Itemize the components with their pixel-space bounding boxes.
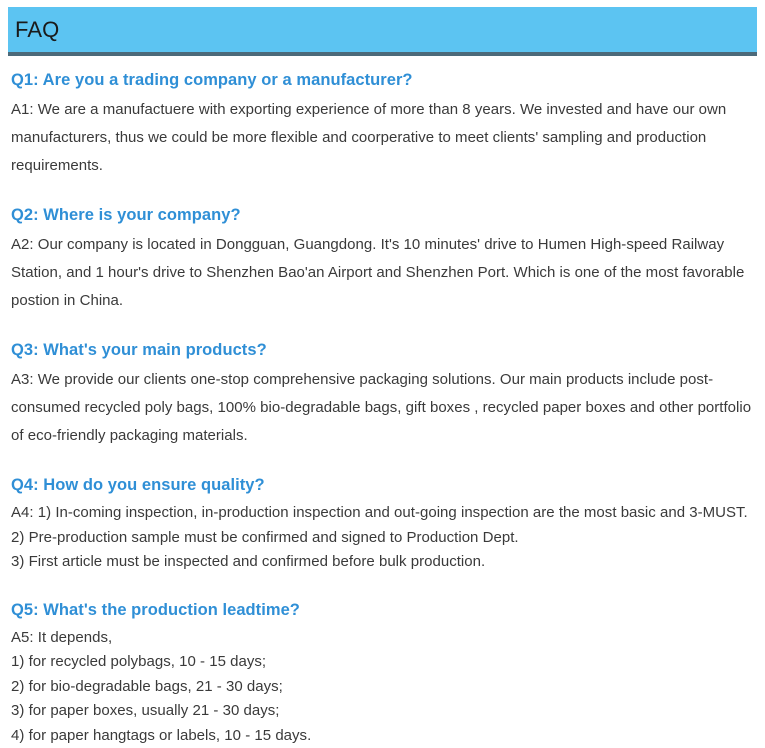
faq-answer: A5: It depends,1) for recycled polybags,…: [11, 626, 753, 748]
faq-banner-title: FAQ: [15, 19, 59, 41]
faq-answer: A2: Our company is located in Dongguan, …: [11, 231, 753, 315]
faq-question: Q5: What's the production leadtime?: [11, 598, 753, 622]
faq-answer: A1: We are a manufactuere with exporting…: [11, 96, 753, 180]
faq-question: Q4: How do you ensure quality?: [11, 473, 753, 497]
faq-question: Q1: Are you a trading company or a manuf…: [11, 68, 753, 92]
faq-item: Q1: Are you a trading company or a manuf…: [11, 68, 753, 180]
faq-answer-line: 2) for bio-degradable bags, 21 - 30 days…: [11, 675, 753, 700]
faq-item: Q3: What's your main products?A3: We pro…: [11, 338, 753, 450]
faq-banner: FAQ: [8, 7, 757, 56]
faq-answer-line: A3: We provide our clients one-stop comp…: [11, 366, 753, 450]
faq-answer-line: 4) for paper hangtags or labels, 10 - 15…: [11, 724, 753, 748]
faq-answer: A3: We provide our clients one-stop comp…: [11, 366, 753, 450]
faq-question: Q3: What's your main products?: [11, 338, 753, 362]
faq-item: Q2: Where is your company?A2: Our compan…: [11, 203, 753, 315]
faq-answer-line: 2) Pre-production sample must be confirm…: [11, 526, 753, 551]
faq-answer: A4: 1) In-coming inspection, in-producti…: [11, 501, 753, 575]
faq-answer-line: 1) for recycled polybags, 10 - 15 days;: [11, 650, 753, 675]
faq-item: Q4: How do you ensure quality?A4: 1) In-…: [11, 473, 753, 575]
faq-answer-line: 3) for paper boxes, usually 21 - 30 days…: [11, 699, 753, 724]
faq-answer-line: 3) First article must be inspected and c…: [11, 550, 753, 575]
faq-item: Q5: What's the production leadtime?A5: I…: [11, 598, 753, 748]
faq-page: FAQ Q1: Are you a trading company or a m…: [0, 0, 765, 748]
faq-answer-line: A5: It depends,: [11, 626, 753, 651]
faq-answer-line: A4: 1) In-coming inspection, in-producti…: [11, 501, 753, 526]
faq-question: Q2: Where is your company?: [11, 203, 753, 227]
faq-answer-line: A1: We are a manufactuere with exporting…: [11, 96, 753, 180]
faq-answer-line: A2: Our company is located in Dongguan, …: [11, 231, 753, 315]
faq-list: Q1: Are you a trading company or a manuf…: [11, 68, 753, 748]
